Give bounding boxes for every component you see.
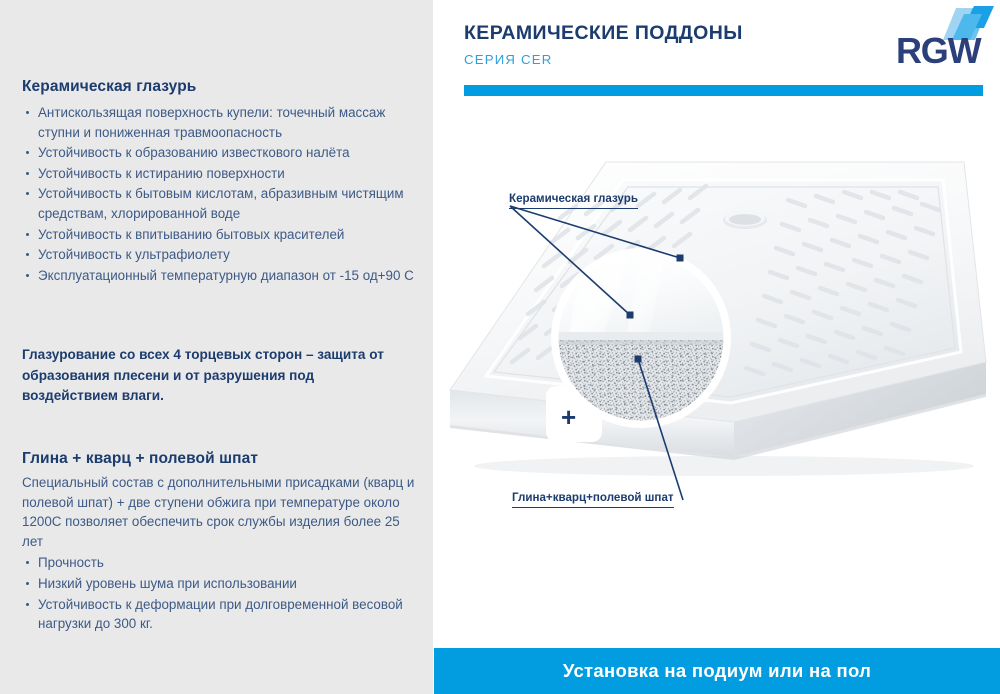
list-item: Устойчивость к бытовым кислотам, абразив… bbox=[22, 184, 422, 223]
page-subtitle: СЕРИЯ CER bbox=[464, 52, 552, 67]
list-item: Устойчивость к образованию известкового … bbox=[22, 143, 422, 163]
clay-composition-list: Прочность Низкий уровень шума при исполь… bbox=[22, 553, 422, 633]
bottom-banner-text: Установка на подиум или на пол bbox=[563, 660, 871, 682]
rgw-logo: RGW bbox=[890, 6, 994, 68]
list-item: Низкий уровень шума при использовании bbox=[22, 574, 422, 594]
clay-composition-section: Глина + кварц + полевой шпат Специальный… bbox=[22, 450, 422, 635]
drain-hole bbox=[723, 211, 767, 229]
list-item: Устойчивость к истиранию поверхности bbox=[22, 164, 422, 184]
list-item: Устойчивость к ультрафиолету bbox=[22, 245, 422, 265]
ceramic-shower-tray-illustration: + bbox=[434, 100, 1000, 645]
plus-symbol: + bbox=[561, 402, 576, 432]
clay-composition-intro: Специальный состав с дополнительными при… bbox=[22, 473, 422, 551]
header-accent-bar bbox=[464, 85, 983, 96]
edge-glazing-note: Глазурование со всех 4 торцевых сторон –… bbox=[22, 345, 412, 407]
list-item: Эксплуатационный температурную диапазон … bbox=[22, 266, 422, 286]
ceramic-glaze-list: Антискользящая поверхность купели: точеч… bbox=[22, 103, 422, 285]
logo-wordmark: RGW bbox=[896, 30, 982, 68]
left-info-panel: Керамическая глазурь Антискользящая пове… bbox=[0, 0, 433, 694]
list-item: Устойчивость к деформации при долговреме… bbox=[22, 595, 422, 634]
list-item: Прочность bbox=[22, 553, 422, 573]
bottom-banner: Установка на подиум или на пол bbox=[434, 648, 1000, 694]
ceramic-glaze-section: Керамическая глазурь Антискользящая пове… bbox=[22, 78, 422, 286]
page-title: КЕРАМИЧЕСКИЕ ПОДДОНЫ bbox=[464, 22, 743, 45]
list-item: Устойчивость к впитыванию бытовых красит… bbox=[22, 225, 422, 245]
callout-clay-quartz-feldspar: Глина+кварц+полевой шпат bbox=[512, 491, 674, 508]
list-item: Антискользящая поверхность купели: точеч… bbox=[22, 103, 422, 142]
clay-composition-title: Глина + кварц + полевой шпат bbox=[22, 450, 422, 468]
ceramic-glaze-title: Керамическая глазурь bbox=[22, 78, 422, 96]
callout-ceramic-glaze: Керамическая глазурь bbox=[509, 192, 638, 209]
